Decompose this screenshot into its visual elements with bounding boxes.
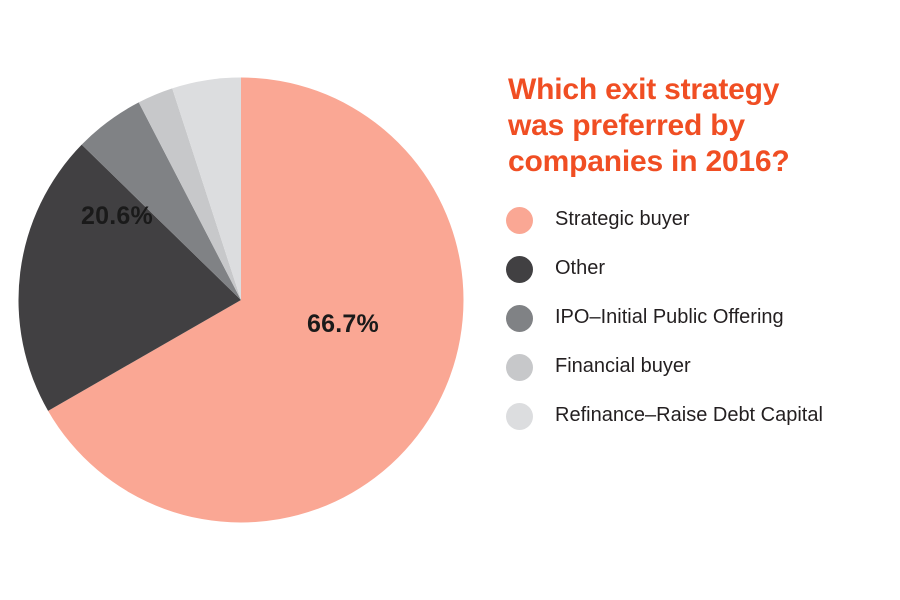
pie-slice-label-strategic-buyer: 66.7% xyxy=(307,310,379,339)
legend-label-ipo: IPO–Initial Public Offering xyxy=(555,304,784,330)
pie-chart: 66.7% 20.6% xyxy=(18,77,464,523)
chart-title-line-2: was preferred by xyxy=(508,109,745,142)
chart-canvas: 66.7% 20.6% Which exit strategy was pref… xyxy=(0,0,900,600)
chart-info-panel: Which exit strategy was preferred by com… xyxy=(506,72,894,451)
legend-label-strategic-buyer: Strategic buyer xyxy=(555,206,690,232)
legend-label-financial-buyer: Financial buyer xyxy=(555,353,691,379)
legend-item-other: Other xyxy=(506,255,894,283)
legend-swatch-icon-strategic-buyer xyxy=(506,207,533,234)
pie-chart-svg xyxy=(18,77,464,523)
pie-slice-group xyxy=(18,78,463,523)
pie-slice-label-other: 20.6% xyxy=(81,202,153,231)
legend-swatch-icon-financial-buyer xyxy=(506,354,533,381)
chart-title-line-1: Which exit strategy xyxy=(508,73,779,106)
legend-label-other: Other xyxy=(555,255,605,281)
legend-item-ipo: IPO–Initial Public Offering xyxy=(506,304,894,332)
legend-label-refinance: Refinance–Raise Debt Capital xyxy=(555,402,823,428)
legend-item-refinance: Refinance–Raise Debt Capital xyxy=(506,402,894,430)
legend-item-strategic-buyer: Strategic buyer xyxy=(506,206,894,234)
chart-title: Which exit strategy was preferred by com… xyxy=(508,72,868,180)
legend-swatch-icon-ipo xyxy=(506,305,533,332)
legend-item-financial-buyer: Financial buyer xyxy=(506,353,894,381)
legend-swatch-icon-refinance xyxy=(506,403,533,430)
chart-legend: Strategic buyer Other IPO–Initial Public… xyxy=(506,206,894,430)
legend-swatch-icon-other xyxy=(506,256,533,283)
chart-title-line-3: companies in 2016? xyxy=(508,145,790,178)
